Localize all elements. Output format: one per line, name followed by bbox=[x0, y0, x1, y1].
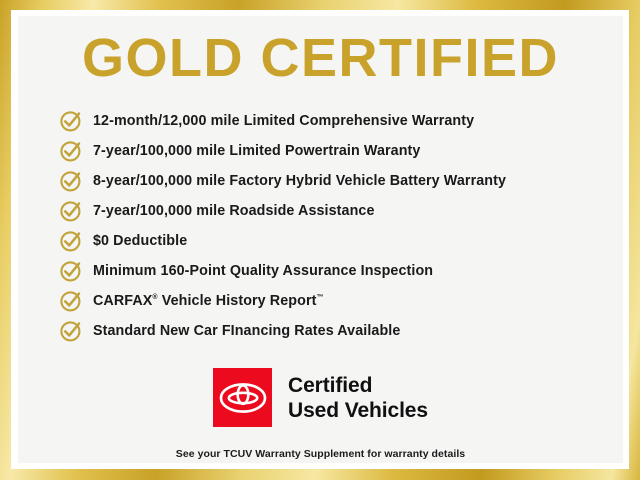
list-item-label: 8-year/100,000 mile Factory Hybrid Vehic… bbox=[93, 173, 506, 189]
check-circle-icon bbox=[59, 199, 83, 223]
list-item: $0 Deductible bbox=[59, 226, 604, 256]
badge-white-inset: GOLD CERTIFIED 12-month/12,000 mile Limi… bbox=[11, 10, 629, 469]
check-circle-icon bbox=[59, 169, 83, 193]
check-circle-icon bbox=[59, 319, 83, 343]
list-item-label: 12-month/12,000 mile Limited Comprehensi… bbox=[93, 113, 474, 129]
list-item: 7-year/100,000 mile Limited Powertrain W… bbox=[59, 136, 604, 166]
toyota-certified-lockup: Certified Used Vehicles bbox=[18, 368, 623, 427]
list-item: 12-month/12,000 mile Limited Comprehensi… bbox=[59, 106, 604, 136]
badge-content-area: GOLD CERTIFIED 12-month/12,000 mile Limi… bbox=[18, 16, 623, 463]
warranty-disclaimer: See your TCUV Warranty Supplement for wa… bbox=[18, 448, 623, 460]
feature-list: 12-month/12,000 mile Limited Comprehensi… bbox=[59, 106, 604, 346]
list-item: 8-year/100,000 mile Factory Hybrid Vehic… bbox=[59, 166, 604, 196]
toyota-logo-tile bbox=[213, 368, 272, 427]
list-item: CARFAX® Vehicle History Report™ bbox=[59, 286, 604, 316]
lockup-line-2: Used Vehicles bbox=[288, 398, 428, 423]
list-item: 7-year/100,000 mile Roadside Assistance bbox=[59, 196, 604, 226]
check-circle-icon bbox=[59, 259, 83, 283]
list-item-label: 7-year/100,000 mile Limited Powertrain W… bbox=[93, 143, 420, 159]
gold-certified-badge: GOLD CERTIFIED 12-month/12,000 mile Limi… bbox=[0, 0, 640, 480]
list-item-label: $0 Deductible bbox=[93, 233, 187, 249]
lockup-text-block: Certified Used Vehicles bbox=[288, 373, 428, 423]
list-item: Minimum 160-Point Quality Assurance Insp… bbox=[59, 256, 604, 286]
list-item-label: 7-year/100,000 mile Roadside Assistance bbox=[93, 203, 375, 219]
list-item-label: CARFAX® Vehicle History Report™ bbox=[93, 293, 324, 309]
check-circle-icon bbox=[59, 139, 83, 163]
list-item: Standard New Car FInancing Rates Availab… bbox=[59, 316, 604, 346]
check-circle-icon bbox=[59, 109, 83, 133]
check-circle-icon bbox=[59, 289, 83, 313]
page-title: GOLD CERTIFIED bbox=[18, 30, 623, 86]
check-circle-icon bbox=[59, 229, 83, 253]
lockup-line-1: Certified bbox=[288, 373, 428, 398]
list-item-label: Standard New Car FInancing Rates Availab… bbox=[93, 323, 400, 339]
list-item-label: Minimum 160-Point Quality Assurance Insp… bbox=[93, 263, 433, 279]
toyota-emblem-icon bbox=[219, 382, 267, 414]
